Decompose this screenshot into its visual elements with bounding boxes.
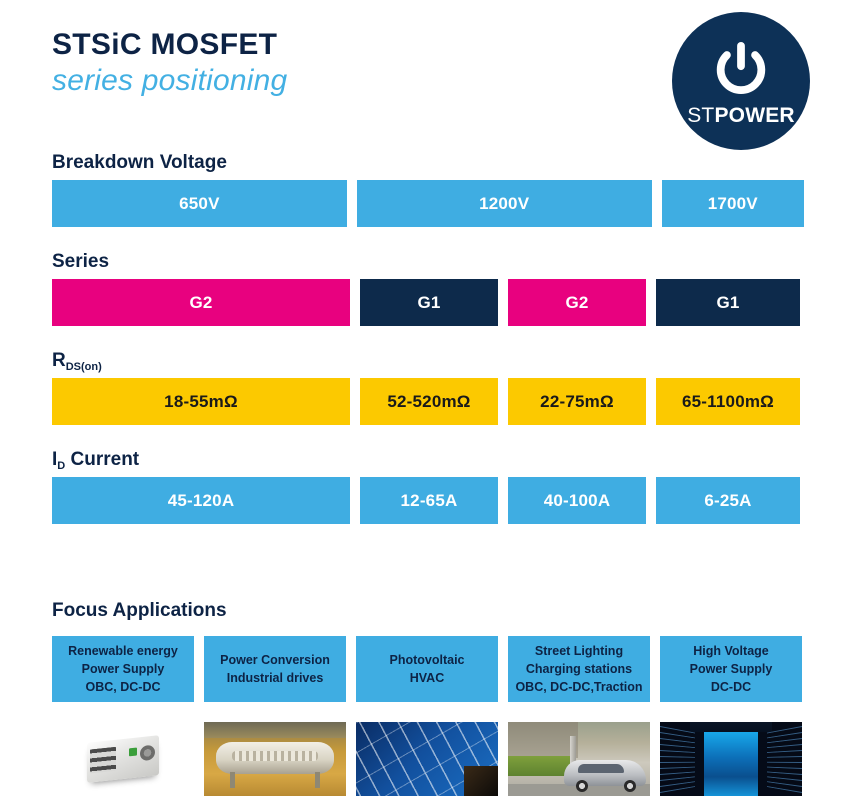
datacenter-aisle — [704, 732, 758, 796]
row-cells-breakdown-voltage: 650V 1200V 1700V — [52, 180, 804, 227]
ev-wall — [508, 722, 578, 758]
cell-rdson-18-55[interactable]: 18-55mΩ — [52, 378, 350, 425]
row-spacer-1 — [0, 227, 856, 249]
cell-rdson-52-520[interactable]: 52-520mΩ — [360, 378, 498, 425]
datacenter-rack-left — [660, 726, 695, 796]
row-cells-id-current: 45-120A 12-65A 40-100A 6-25A — [52, 477, 804, 524]
focus-line: Street Lighting — [535, 642, 623, 660]
cell-current-45-120[interactable]: 45-120A — [52, 477, 350, 524]
focus-applications-section: Focus Applications Renewable energy Powe… — [0, 598, 856, 702]
ev-car-wheel-front — [576, 780, 588, 792]
cell-voltage-1700[interactable]: 1700V — [662, 180, 804, 227]
ev-grass — [508, 756, 572, 776]
logo-text-power: POWER — [714, 104, 794, 127]
row-cells-series: G2 G1 G2 G1 — [52, 279, 804, 326]
focus-cell-power-conversion[interactable]: Power Conversion Industrial drives — [204, 636, 346, 702]
stpower-logo: STPOWER — [672, 12, 810, 150]
focus-cell-street-lighting[interactable]: Street Lighting Charging stations OBC, D… — [508, 636, 650, 702]
page-subtitle: series positioning — [52, 62, 287, 100]
cell-series-g1-1700[interactable]: G1 — [656, 279, 800, 326]
cell-voltage-1200[interactable]: 1200V — [357, 180, 652, 227]
cell-current-12-65[interactable]: 12-65A — [360, 477, 498, 524]
row-cells-rdson: 18-55mΩ 52-520mΩ 22-75mΩ 65-1100mΩ — [52, 378, 804, 425]
row-label-text: Breakdown Voltage — [52, 152, 227, 173]
power-module-photo — [52, 722, 194, 796]
row-label-rdson: RDS(on) — [52, 348, 856, 374]
row-spacer-2 — [0, 326, 856, 348]
industrial-leg-left — [230, 772, 235, 788]
page-header: STSiC MOSFET series positioning STPOWER — [0, 0, 856, 150]
focus-cell-high-voltage[interactable]: High Voltage Power Supply DC-DC — [660, 636, 802, 702]
cell-series-g2-1200[interactable]: G2 — [508, 279, 646, 326]
row-label-text: Series — [52, 251, 109, 272]
datacenter-ceiling — [690, 722, 772, 732]
page-title: STSiC MOSFET — [52, 28, 287, 62]
focus-line: OBC, DC-DC,Traction — [515, 678, 642, 696]
row-label-breakdown-voltage: Breakdown Voltage — [52, 150, 856, 176]
solar-panel-photo — [356, 722, 498, 796]
focus-line: Renewable energy — [68, 642, 178, 660]
focus-applications-title: Focus Applications — [52, 598, 856, 626]
focus-line: Power Conversion — [220, 651, 330, 669]
ev-car-wheel-rear — [624, 780, 636, 792]
industrial-background — [204, 722, 346, 738]
logo-text-st: ST — [687, 104, 714, 127]
focus-cell-renewable-energy[interactable]: Renewable energy Power Supply OBC, DC-DC — [52, 636, 194, 702]
industrial-machinery-photo — [204, 722, 346, 796]
focus-line: OBC, DC-DC — [86, 678, 161, 696]
focus-line: Power Supply — [82, 660, 165, 678]
row-label-series: Series — [52, 249, 856, 275]
focus-line: HVAC — [410, 669, 445, 687]
focus-line: Charging stations — [526, 660, 632, 678]
cell-voltage-650[interactable]: 650V — [52, 180, 347, 227]
cell-current-6-25[interactable]: 6-25A — [656, 477, 800, 524]
focus-line: DC-DC — [711, 678, 751, 696]
module-indicator — [129, 748, 137, 757]
cell-rdson-22-75[interactable]: 22-75mΩ — [508, 378, 646, 425]
power-symbol-icon — [710, 41, 772, 103]
focus-applications-list: Renewable energy Power Supply OBC, DC-DC… — [52, 636, 804, 702]
title-block: STSiC MOSFET series positioning — [52, 28, 287, 99]
spec-table: Breakdown Voltage 650V 1200V 1700V Serie… — [0, 150, 856, 524]
row-spacer-3 — [0, 425, 856, 447]
power-module-shape — [87, 735, 159, 783]
cell-current-40-100[interactable]: 40-100A — [508, 477, 646, 524]
row-label-text-after: Current — [65, 449, 139, 470]
cell-series-g1-1200[interactable]: G1 — [360, 279, 498, 326]
row-label-id-current: ID Current — [52, 447, 856, 473]
cell-rdson-65-1100[interactable]: 65-1100mΩ — [656, 378, 800, 425]
focus-line: High Voltage — [693, 642, 768, 660]
industrial-machine-shape — [216, 742, 334, 774]
focus-line: Photovoltaic — [389, 651, 464, 669]
logo-wordmark: STPOWER — [687, 105, 795, 126]
ev-charging-photo — [508, 722, 650, 796]
row-label-text: R — [52, 350, 66, 371]
industrial-leg-right — [315, 772, 320, 788]
focus-cell-photovoltaic[interactable]: Photovoltaic HVAC — [356, 636, 498, 702]
application-photo-strip — [52, 722, 804, 796]
datacenter-rack-right — [767, 726, 802, 796]
focus-line: Power Supply — [690, 660, 773, 678]
focus-line: Industrial drives — [227, 669, 324, 687]
cell-series-g2-650[interactable]: G2 — [52, 279, 350, 326]
data-center-photo — [660, 722, 802, 796]
row-label-subscript: DS(on) — [66, 361, 102, 373]
row-label-subscript: D — [57, 460, 65, 472]
